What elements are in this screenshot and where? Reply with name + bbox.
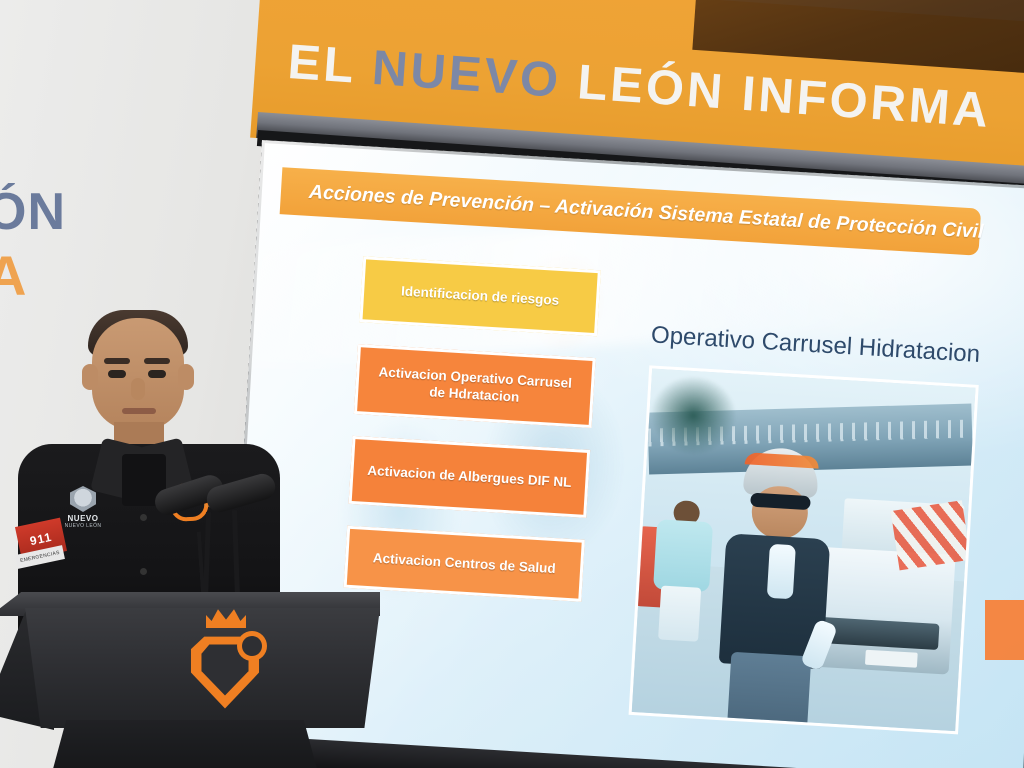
podium-base	[50, 720, 320, 768]
shield-ring-icon	[242, 636, 262, 656]
wall-signage: ÓN A	[0, 188, 106, 328]
speaker-jacket-button	[140, 514, 147, 521]
state-crest-icon	[70, 486, 96, 512]
speaker-brow-left	[104, 358, 130, 364]
speaker-mouth	[122, 408, 156, 414]
photo-civil-protection-worker	[707, 445, 853, 730]
press-conference-scene: ÓN A EL NUEVO LEÓN INFORMA Acciones de P…	[0, 0, 1024, 768]
speaker-brow-right	[144, 358, 170, 364]
wall-sign-line2: A	[0, 249, 106, 302]
state-patch-line2: NUEVO LEÓN	[62, 523, 104, 529]
photo-license-plate	[865, 650, 918, 668]
photo-pedestrian-shirt	[653, 519, 713, 592]
podium	[0, 592, 390, 768]
photo-water-bottle	[767, 544, 796, 599]
uniform-state-patch: NUEVO NUEVO LEÓN	[62, 486, 104, 536]
action-box: Activacion de Albergues DIF NL	[349, 436, 591, 518]
slide-action-list: Identificacion de riesgos Activacion Ope…	[342, 256, 613, 624]
photo-pedestrian-shorts	[658, 585, 701, 641]
photo-walking-pedestrian	[648, 519, 713, 672]
state-patch-line1: NUEVO	[62, 514, 104, 523]
speaker-jacket-button	[140, 568, 147, 575]
slide-photo	[629, 365, 979, 734]
speaker-ear-left	[82, 364, 98, 390]
podium-emblem	[178, 608, 274, 716]
slide-edge-strip	[985, 600, 1024, 660]
banner-title-part1: EL	[286, 35, 374, 95]
speaker-eye-left	[108, 370, 126, 378]
action-box: Activacion Operativo Carrusel de Hdratac…	[354, 344, 596, 428]
action-box: Identificacion de riesgos	[359, 256, 600, 336]
emergency-patch-number: 911	[29, 530, 54, 548]
speaker-eye-right	[148, 370, 166, 378]
crown-icon	[206, 608, 246, 628]
wall-sign-line1: ÓN	[0, 188, 106, 237]
photo-street-awning	[891, 500, 971, 570]
speaker-nose	[131, 378, 145, 400]
speaker-ear-right	[178, 364, 194, 390]
action-box: Activacion Centros de Salud	[344, 526, 585, 602]
